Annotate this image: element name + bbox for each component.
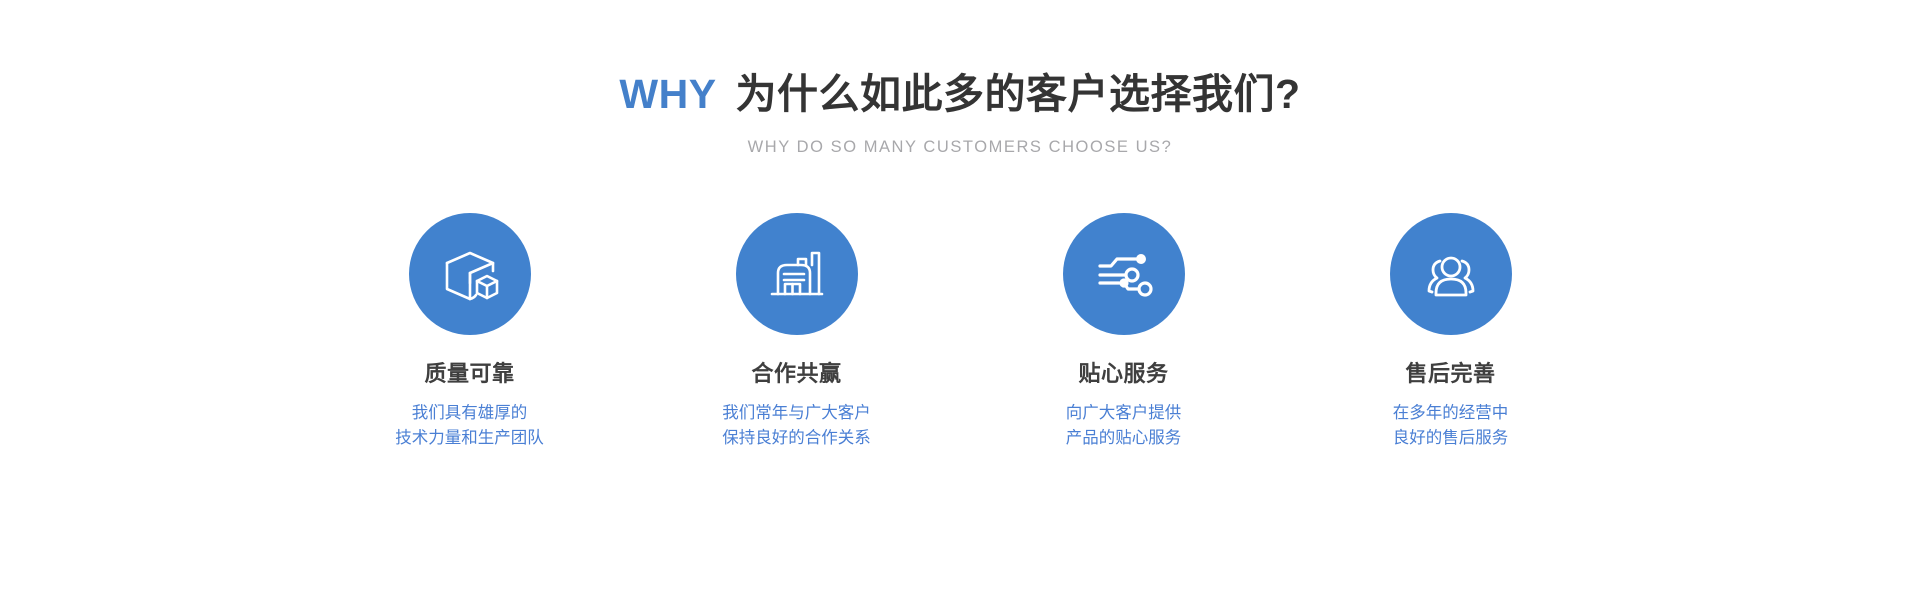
feature-title: 合作共赢 [751,361,841,387]
feature-description-line1: 在多年的经营中 [1393,401,1509,426]
feature-description: 向广大客户提供 产品的贴心服务 [1066,401,1182,451]
feature-item-quality[interactable]: 质量可靠 我们具有雄厚的 技术力量和生产团队 [306,213,633,451]
feature-description: 在多年的经营中 良好的售后服务 [1393,401,1509,451]
section-title-row: WHY 为什么如此多的客户选择我们? [619,74,1300,115]
feature-title: 贴心服务 [1078,361,1168,387]
feature-description: 我们常年与广大客户 保持良好的合作关系 [722,401,871,451]
package-box-icon [437,241,503,307]
section-title-main: 为什么如此多的客户选择我们? [736,74,1301,115]
feature-icon-circle [736,213,858,335]
feature-item-service[interactable]: 贴心服务 向广大客户提供 产品的贴心服务 [960,213,1287,451]
feature-description-line2: 良好的售后服务 [1393,426,1509,451]
feature-description: 我们具有雄厚的 技术力量和生产团队 [395,401,544,451]
feature-description-line2: 技术力量和生产团队 [395,426,544,451]
feature-description-line2: 保持良好的合作关系 [722,426,871,451]
feature-item-cooperation[interactable]: 合作共赢 我们常年与广大客户 保持良好的合作关系 [633,213,960,451]
users-group-icon [1418,241,1484,307]
feature-description-line1: 向广大客户提供 [1066,401,1182,426]
circuit-network-icon [1091,241,1157,307]
factory-icon [764,241,830,307]
section-subtitle: WHY DO SO MANY CUSTOMERS CHOOSE US? [748,138,1173,157]
feature-list: 质量可靠 我们具有雄厚的 技术力量和生产团队 [0,213,1920,451]
section-heading-block: WHY 为什么如此多的客户选择我们? WHY DO SO MANY CUSTOM… [0,74,1920,157]
feature-icon-circle [1390,213,1512,335]
feature-icon-circle [409,213,531,335]
feature-description-line2: 产品的贴心服务 [1066,426,1182,451]
feature-description-line1: 我们常年与广大客户 [722,401,871,426]
feature-item-aftersales[interactable]: 售后完善 在多年的经营中 良好的售后服务 [1287,213,1614,451]
why-choose-us-section: WHY 为什么如此多的客户选择我们? WHY DO SO MANY CUSTOM… [0,0,1920,615]
section-title-accent: WHY [619,74,716,115]
feature-title: 质量可靠 [424,361,514,387]
feature-description-line1: 我们具有雄厚的 [395,401,544,426]
feature-icon-circle [1063,213,1185,335]
feature-title: 售后完善 [1405,361,1495,387]
